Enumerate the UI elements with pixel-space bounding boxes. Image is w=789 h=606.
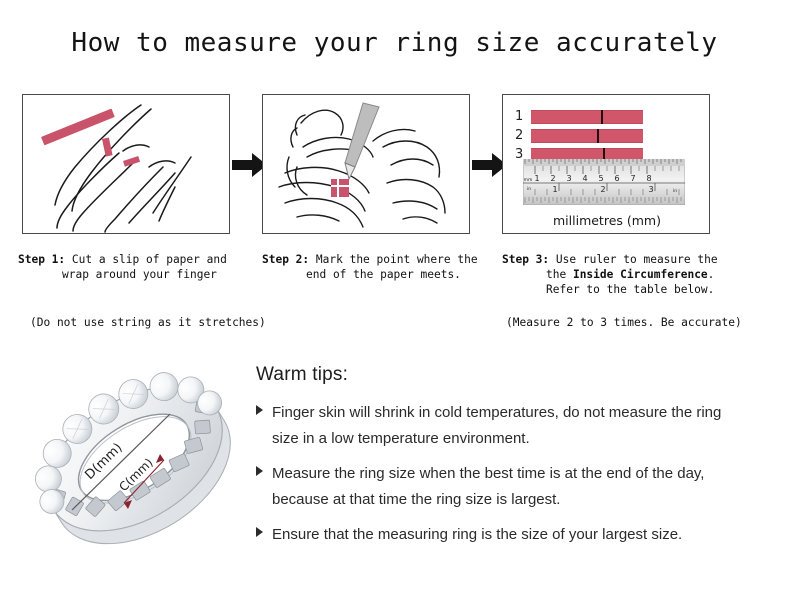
paper-strip-red: [331, 179, 349, 197]
inch-tick-2: 2: [600, 185, 605, 194]
step-2-label: Step 2:: [262, 253, 309, 266]
step-1-label: Step 1:: [18, 253, 65, 266]
mm-tick-1: 1: [534, 174, 539, 183]
step-3-line3: Refer to the table below.: [502, 282, 742, 297]
step-1-line2: wrap around your finger: [18, 267, 258, 282]
step-2-caption: Step 2: Mark the point where the end of …: [262, 252, 502, 282]
tip-text-1: Finger skin will shrink in cold temperat…: [272, 400, 742, 452]
page-title: How to measure your ring size accurately: [0, 28, 789, 58]
mm-tick-4: 4: [582, 174, 587, 183]
mm-unit-label: mm: [524, 178, 533, 183]
inch-tick-1: 1: [552, 185, 557, 194]
step-1-illustration-panel: [22, 94, 230, 234]
warm-tips-section: Warm tips: Finger skin will shrink in co…: [256, 364, 776, 557]
step-3-label: Step 3:: [502, 253, 549, 266]
tip-text-3: Ensure that the measuring ring is the si…: [272, 522, 682, 548]
bullet-triangle-icon: [256, 405, 263, 415]
paper-strip-2: [531, 129, 643, 143]
tip-item: Finger skin will shrink in cold temperat…: [256, 400, 776, 452]
inch-end-label: in: [673, 188, 677, 194]
mm-tick-7: 7: [630, 174, 635, 183]
inside-circumference-emphasis: Inside Circumference: [573, 268, 708, 281]
measured-strip-row-1: 1: [515, 109, 643, 124]
step-2-line2: end of the paper meets.: [262, 267, 502, 282]
strip-number-2: 2: [515, 128, 531, 143]
hand-marking-paper-illustration: [263, 95, 469, 233]
mm-tick-2: 2: [550, 174, 555, 183]
bullet-triangle-icon: [256, 466, 263, 476]
ring-diagram: D(mm) C(mm): [28, 352, 243, 567]
step-3-line2: the Inside Circumference.: [502, 267, 742, 282]
inch-unit-label: in: [527, 186, 531, 192]
mm-tick-5: 5: [598, 174, 603, 183]
mm-tick-3: 3: [566, 174, 571, 183]
step-2-illustration-panel: [262, 94, 470, 234]
step-3-caption: Step 3: Use ruler to measure the the Ins…: [502, 252, 742, 297]
paper-strip-1: [531, 110, 643, 124]
tip-item: Ensure that the measuring ring is the si…: [256, 522, 776, 548]
ruler-graphic: 1 2 3 4 5 6 7 8 mm 1 2 3 in in: [523, 159, 685, 210]
step-2-line1: Mark the point where the: [316, 253, 478, 266]
measured-strip-row-2: 2: [515, 128, 643, 143]
bullet-triangle-icon: [256, 527, 263, 537]
hand-with-paper-strip-illustration: [23, 95, 229, 233]
step-3-illustration-panel: 1 2 3: [502, 94, 710, 234]
mm-tick-6: 6: [614, 174, 619, 183]
tip-item: Measure the ring size when the best time…: [256, 461, 776, 513]
ruler-unit-label: millimetres (mm): [503, 213, 710, 228]
step-1-caption: Step 1: Cut a slip of paper and wrap aro…: [18, 252, 258, 282]
step-3-note: (Measure 2 to 3 times. Be accurate): [506, 316, 742, 329]
warm-tips-heading: Warm tips:: [256, 364, 776, 386]
mm-tick-8: 8: [646, 174, 651, 183]
strip-mark-2: [597, 129, 599, 143]
step-1-note: (Do not use string as it stretches): [30, 316, 266, 329]
step-3-line1: Use ruler to measure the: [556, 253, 718, 266]
ring-size-guide-page: How to measure your ring size accurately: [0, 0, 789, 606]
tip-text-2: Measure the ring size when the best time…: [272, 461, 742, 513]
strip-number-1: 1: [515, 109, 531, 124]
inch-tick-3: 3: [648, 185, 653, 194]
strip-mark-1: [601, 110, 603, 124]
step-1-line1: Cut a slip of paper and: [72, 253, 227, 266]
